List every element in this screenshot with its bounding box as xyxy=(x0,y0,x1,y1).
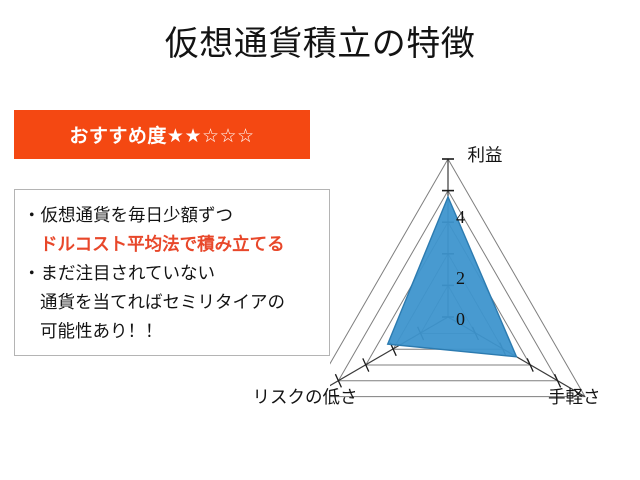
radar-tick-label-4: 4 xyxy=(456,208,465,226)
radar-axis-label-ease: 手軽さ xyxy=(548,386,640,408)
feature-line-2-highlight: ドルコスト平均法で積み立てる xyxy=(23,230,321,259)
radar-tick-label-2: 2 xyxy=(456,269,465,287)
recommendation-banner: おすすめ度★★☆☆☆ xyxy=(14,110,310,159)
recommendation-banner-label: おすすめ度★★☆☆☆ xyxy=(69,121,254,148)
feature-line-1: ・仮想通貨を毎日少額ずつ xyxy=(23,201,321,230)
feature-line-5: 可能性あり！！ xyxy=(23,317,321,346)
page-title: 仮想通貨積立の特徴 xyxy=(0,22,640,66)
feature-text-box: ・仮想通貨を毎日少額ずつ ドルコスト平均法で積み立てる ・まだ注目されていない … xyxy=(14,189,330,356)
radar-chart: 4 2 0 利益 リスクの低さ 手軽さ xyxy=(330,140,640,425)
feature-line-4: 通貨を当てればセミリタイアの xyxy=(23,288,321,317)
radar-tick-label-0: 0 xyxy=(456,310,465,328)
radar-axis-label-low-risk: リスクの低さ xyxy=(185,386,425,408)
radar-axis-label-profit: 利益 xyxy=(330,144,640,166)
radar-chart-svg xyxy=(330,140,640,425)
feature-line-3: ・まだ注目されていない xyxy=(23,259,321,288)
